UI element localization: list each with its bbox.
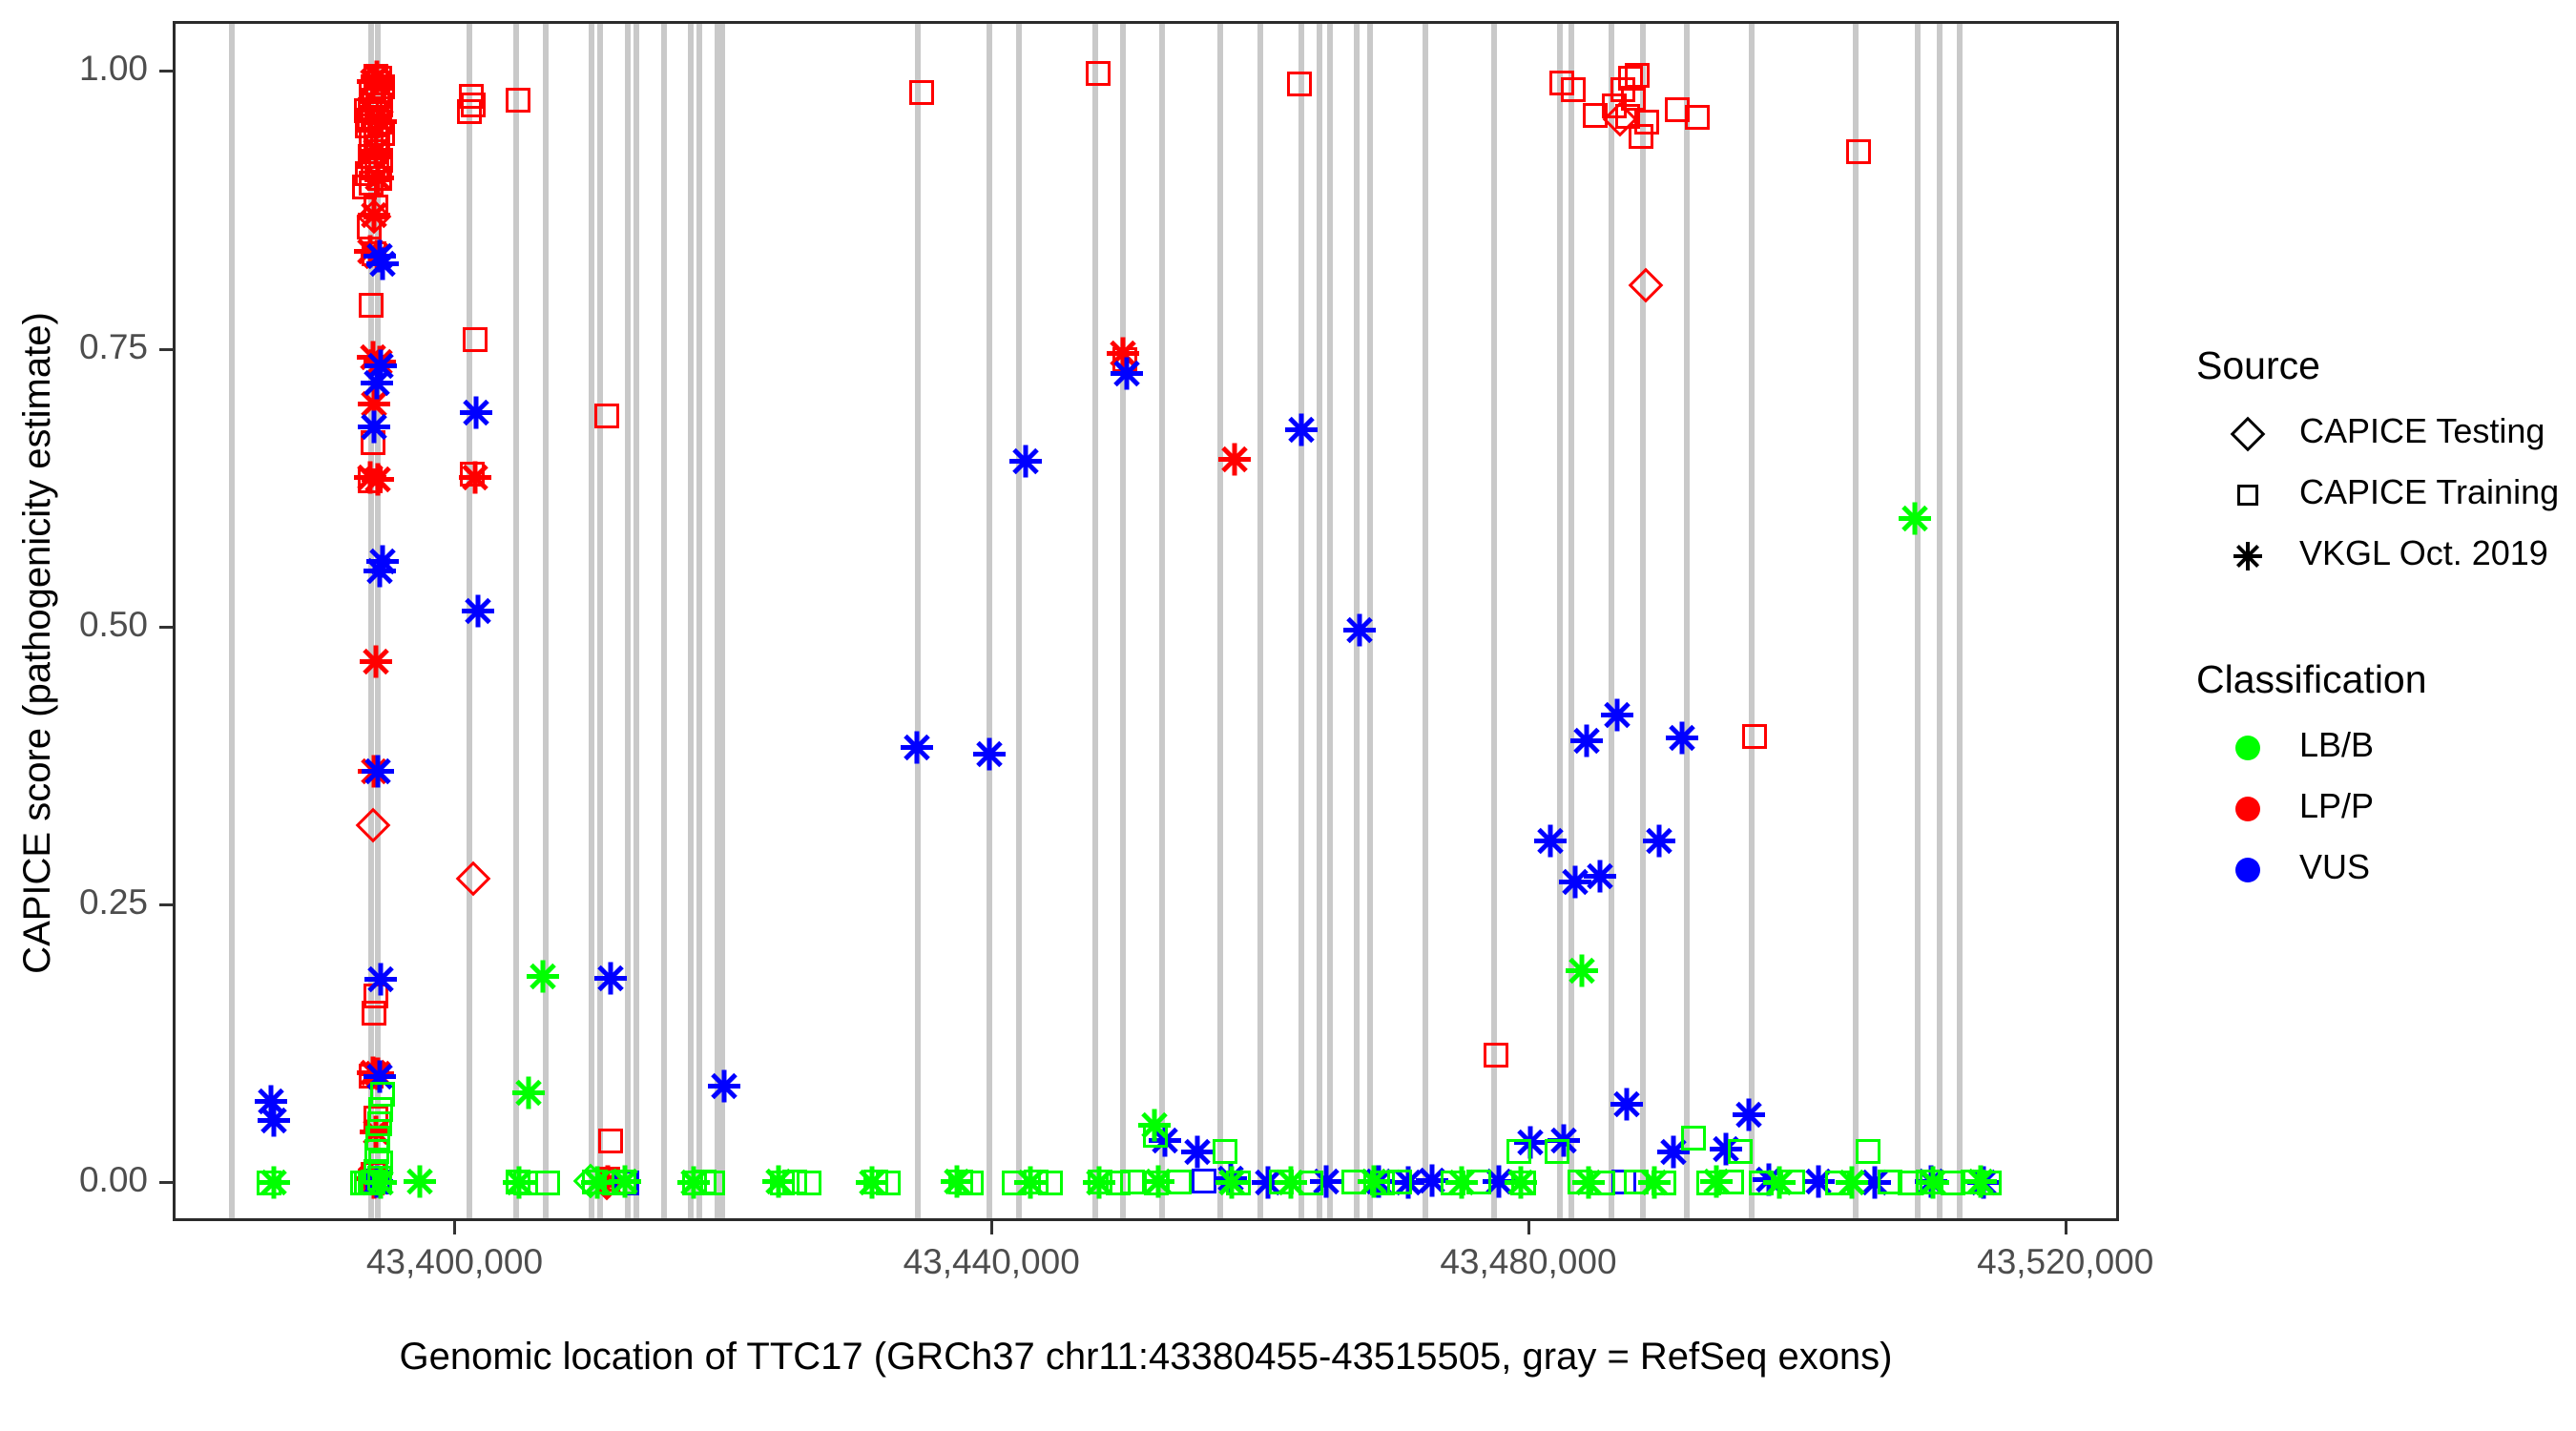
exon-line (467, 24, 472, 1218)
data-point-square (909, 80, 934, 105)
exon-line (915, 24, 921, 1218)
y-tick-label: 0.50 (0, 605, 148, 645)
exon-line (1298, 24, 1304, 1218)
exon-line (1120, 24, 1126, 1218)
data-point-square (1611, 1170, 1636, 1194)
exon-line (1159, 24, 1165, 1218)
data-point-square (1780, 1170, 1805, 1194)
exon-line (1915, 24, 1921, 1218)
exon-line (987, 24, 992, 1218)
legend-item-classification[interactable]: LB/B (2194, 717, 2557, 778)
data-point-square (1634, 110, 1659, 135)
exon-line (589, 24, 594, 1218)
plot-panel (173, 21, 2119, 1221)
data-point-diamond (456, 861, 491, 896)
x-axis-title: Genomic location of TTC17 (GRCh37 chr11:… (173, 1336, 2119, 1379)
exon-line (1557, 24, 1563, 1218)
exon-line (661, 24, 667, 1218)
exon-line (1491, 24, 1497, 1218)
data-point-diamond (1602, 102, 1637, 137)
exon-line (1367, 24, 1373, 1218)
chart-root: CAPICE score (pathogenicity estimate) 0.… (0, 0, 2576, 1431)
exon-line (368, 24, 374, 1218)
data-point-square (1825, 1171, 1850, 1195)
legend-label: LP/P (2299, 786, 2374, 826)
y-tick-label: 0.00 (0, 1160, 148, 1200)
legend-label: CAPICE Testing (2299, 411, 2545, 451)
exon-line (229, 24, 235, 1218)
data-point-square (602, 1171, 627, 1195)
exon-line (1016, 24, 1022, 1218)
legend-item-classification[interactable]: VUS (2194, 840, 2557, 901)
data-point-square (682, 1171, 707, 1195)
x-tick-label: 43,520,000 (1922, 1242, 2209, 1282)
legend-label: VUS (2299, 847, 2370, 887)
x-tick-label: 43,440,000 (848, 1242, 1134, 1282)
data-point-square (1192, 1169, 1216, 1193)
color-dot-icon (2225, 717, 2271, 778)
exon-line (625, 24, 631, 1218)
exon-line (1749, 24, 1755, 1218)
exon-line (1092, 24, 1098, 1218)
data-point-square (1370, 1171, 1395, 1195)
exon-line (597, 24, 603, 1218)
legend-classification-title: Classification (2196, 657, 2557, 702)
exon-line (1957, 24, 1963, 1218)
exon-line (634, 24, 639, 1218)
data-point-square (1977, 1171, 2002, 1195)
square-icon (2225, 465, 2271, 526)
exon-line (1354, 24, 1360, 1218)
legend-source-title: Source (2196, 343, 2557, 388)
legend-spacer (2194, 587, 2557, 657)
y-tick-mark (159, 903, 173, 906)
x-tick-mark (2065, 1221, 2067, 1234)
data-point-square (1583, 103, 1608, 128)
y-tick-mark (159, 626, 173, 629)
asterisk-icon (2225, 526, 2271, 587)
legend: Source CAPICE TestingCAPICE TrainingVKGL… (2194, 343, 2557, 901)
data-point-square (1696, 1171, 1721, 1195)
data-point-square (1441, 1171, 1465, 1195)
exon-line (543, 24, 549, 1218)
exon-line (1257, 24, 1263, 1218)
exon-line (1640, 24, 1646, 1218)
color-dot-icon (2225, 778, 2271, 840)
y-tick-mark (159, 70, 173, 73)
data-point-square (1506, 1139, 1531, 1164)
exon-line (688, 24, 694, 1218)
data-point-square (1038, 1171, 1063, 1195)
data-point-square (1625, 63, 1650, 88)
data-point-square (863, 1170, 888, 1194)
data-point-square (959, 1171, 984, 1195)
plot-area (176, 24, 2116, 1218)
y-tick-label: 0.25 (0, 882, 148, 923)
x-tick-label: 43,480,000 (1385, 1242, 1672, 1282)
exon-line (719, 24, 725, 1218)
exon-line (1684, 24, 1690, 1218)
y-tick-label: 1.00 (0, 49, 148, 89)
data-point-square (1024, 1170, 1049, 1194)
legend-label: VKGL Oct. 2019 (2299, 533, 2548, 573)
legend-item-classification[interactable]: LP/P (2194, 778, 2557, 840)
data-point-square (770, 1171, 795, 1195)
y-tick-mark (159, 1181, 173, 1184)
data-point-square (1106, 1171, 1131, 1195)
data-point-square (876, 1171, 901, 1195)
exon-line (1317, 24, 1322, 1218)
y-tick-mark (159, 348, 173, 351)
legend-item-source[interactable]: CAPICE Training (2194, 465, 2557, 526)
color-dot-icon (2225, 840, 2271, 901)
exon-line (1568, 24, 1574, 1218)
data-point-square (1652, 1171, 1676, 1195)
data-point-square (1002, 1171, 1027, 1195)
data-point-square (1511, 1171, 1536, 1195)
data-point-square (257, 1171, 281, 1195)
x-tick-mark (990, 1221, 993, 1234)
data-point-square (1961, 1170, 1985, 1194)
exon-line (1423, 24, 1428, 1218)
data-point-square (1878, 1170, 1902, 1194)
data-point-square (1226, 1171, 1251, 1195)
data-point-square (1387, 1170, 1412, 1194)
x-tick-mark (453, 1221, 456, 1234)
legend-item-source[interactable]: VKGL Oct. 2019 (2194, 526, 2557, 587)
data-point-square (797, 1171, 821, 1195)
exon-line (1327, 24, 1333, 1218)
data-point-square (1719, 1170, 1744, 1194)
x-tick-label: 43,400,000 (311, 1242, 597, 1282)
diamond-icon (2225, 404, 2271, 465)
data-point-square (461, 93, 486, 117)
exon-line (1217, 24, 1223, 1218)
exon-line (1937, 24, 1942, 1218)
exon-line (513, 24, 519, 1218)
data-point-square (1144, 1171, 1169, 1195)
legend-label: CAPICE Training (2299, 472, 2559, 512)
data-point-square (948, 1170, 973, 1194)
legend-label: LB/B (2299, 725, 2374, 765)
exon-line (375, 24, 381, 1218)
data-point-square (782, 1170, 807, 1194)
exon-line (696, 24, 702, 1218)
y-tick-label: 0.75 (0, 327, 148, 367)
data-point-square (1167, 1170, 1192, 1194)
exon-line (1609, 24, 1614, 1218)
data-point-square (1269, 1170, 1294, 1194)
data-point-square (1856, 1139, 1880, 1164)
legend-item-source[interactable]: CAPICE Testing (2194, 404, 2557, 465)
exon-line (1853, 24, 1859, 1218)
legend-source-items: CAPICE TestingCAPICE TrainingVKGL Oct. 2… (2194, 404, 2557, 587)
x-tick-mark (1527, 1221, 1530, 1234)
data-point-square (1615, 104, 1640, 129)
legend-classification-items: LB/BLP/PVUS (2194, 717, 2557, 901)
data-point-square (1466, 1170, 1491, 1194)
